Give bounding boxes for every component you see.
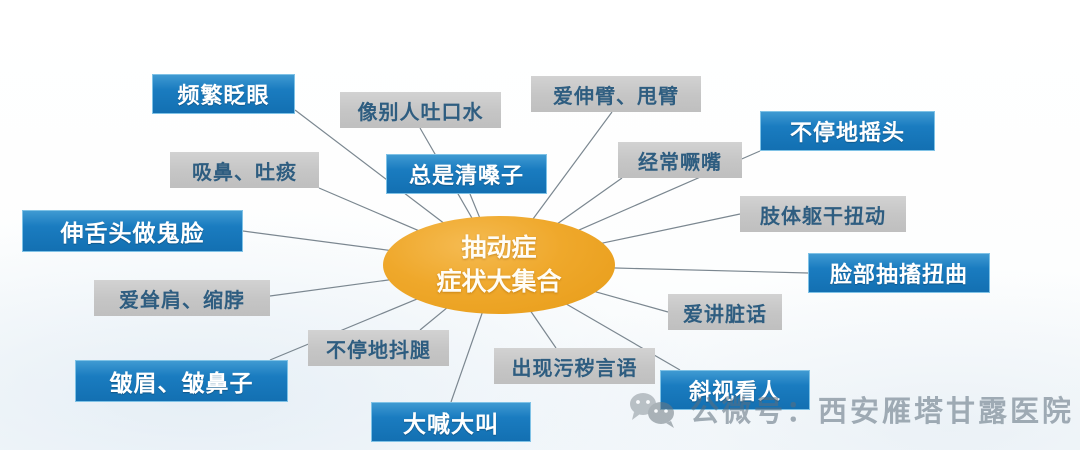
- connector-line: [243, 231, 392, 251]
- connector-line: [470, 194, 480, 218]
- symptom-node: 爱耸肩、缩脖: [94, 280, 270, 316]
- symptom-node-label: 像别人吐口水: [358, 96, 484, 125]
- symptom-node-label: 不停地摇头: [790, 115, 905, 147]
- symptom-node-label: 爱耸肩、缩脖: [119, 284, 245, 313]
- symptom-node: 肢体躯干扭动: [740, 196, 906, 232]
- center-node: 抽动症 症状大集合: [383, 216, 615, 314]
- symptom-node-label: 经常噘嘴: [638, 146, 722, 175]
- connector-line: [611, 268, 808, 273]
- center-node-line1: 抽动症: [461, 231, 536, 265]
- symptom-node-label: 吸鼻、吐痰: [192, 156, 297, 185]
- symptom-node: 脸部抽搐扭曲: [808, 253, 990, 293]
- symptom-node: 像别人吐口水: [340, 92, 501, 128]
- symptom-node-label: 肢体躯干扭动: [760, 200, 886, 229]
- symptom-node-label: 大喊大叫: [403, 405, 499, 439]
- symptom-node-label: 皱眉、皱鼻子: [110, 364, 254, 398]
- symptom-node-label: 总是清嗓子: [409, 158, 524, 190]
- symptom-node: 不停地抖腿: [308, 330, 449, 366]
- connector-line: [593, 291, 668, 312]
- connector-line: [270, 280, 392, 297]
- symptom-node: 总是清嗓子: [386, 154, 547, 194]
- symptom-node: 大喊大叫: [371, 402, 531, 442]
- symptom-node: 不停地摇头: [760, 111, 935, 151]
- symptom-node-label: 出现污秽言语: [512, 352, 638, 381]
- connector-line: [451, 312, 483, 402]
- symptom-node-label: 不停地抖腿: [326, 334, 431, 363]
- symptom-node: 爱伸臂、甩臂: [531, 76, 701, 112]
- symptom-node-label: 脸部抽搐扭曲: [830, 257, 968, 289]
- symptom-node: 斜视看人: [660, 370, 810, 410]
- symptom-node: 经常噘嘴: [618, 142, 742, 178]
- symptom-node-label: 爱伸臂、甩臂: [553, 80, 679, 109]
- symptom-node-label: 频繁眨眼: [177, 78, 269, 110]
- diagram-canvas: 抽动症 症状大集合 频繁眨眼像别人吐口水爱伸臂、甩臂不停地摇头吸鼻、吐痰总是清嗓…: [0, 0, 1080, 450]
- symptom-node: 频繁眨眼: [152, 74, 295, 114]
- connector-line: [600, 214, 740, 244]
- connector-line: [420, 307, 448, 330]
- symptom-node-label: 伸舌头做鬼脸: [61, 214, 205, 248]
- symptom-node: 爱讲脏话: [668, 294, 782, 330]
- symptom-node: 伸舌头做鬼脸: [22, 210, 243, 252]
- connector-line: [557, 178, 622, 224]
- connector-line: [530, 311, 556, 348]
- connector-line: [319, 188, 420, 231]
- symptom-node: 出现污秽言语: [494, 348, 655, 384]
- symptom-node-label: 斜视看人: [689, 374, 781, 406]
- center-node-line2: 症状大集合: [436, 265, 561, 299]
- symptom-node: 吸鼻、吐痰: [170, 152, 319, 188]
- symptom-node: 皱眉、皱鼻子: [75, 360, 288, 402]
- symptom-node-label: 爱讲脏话: [683, 298, 767, 327]
